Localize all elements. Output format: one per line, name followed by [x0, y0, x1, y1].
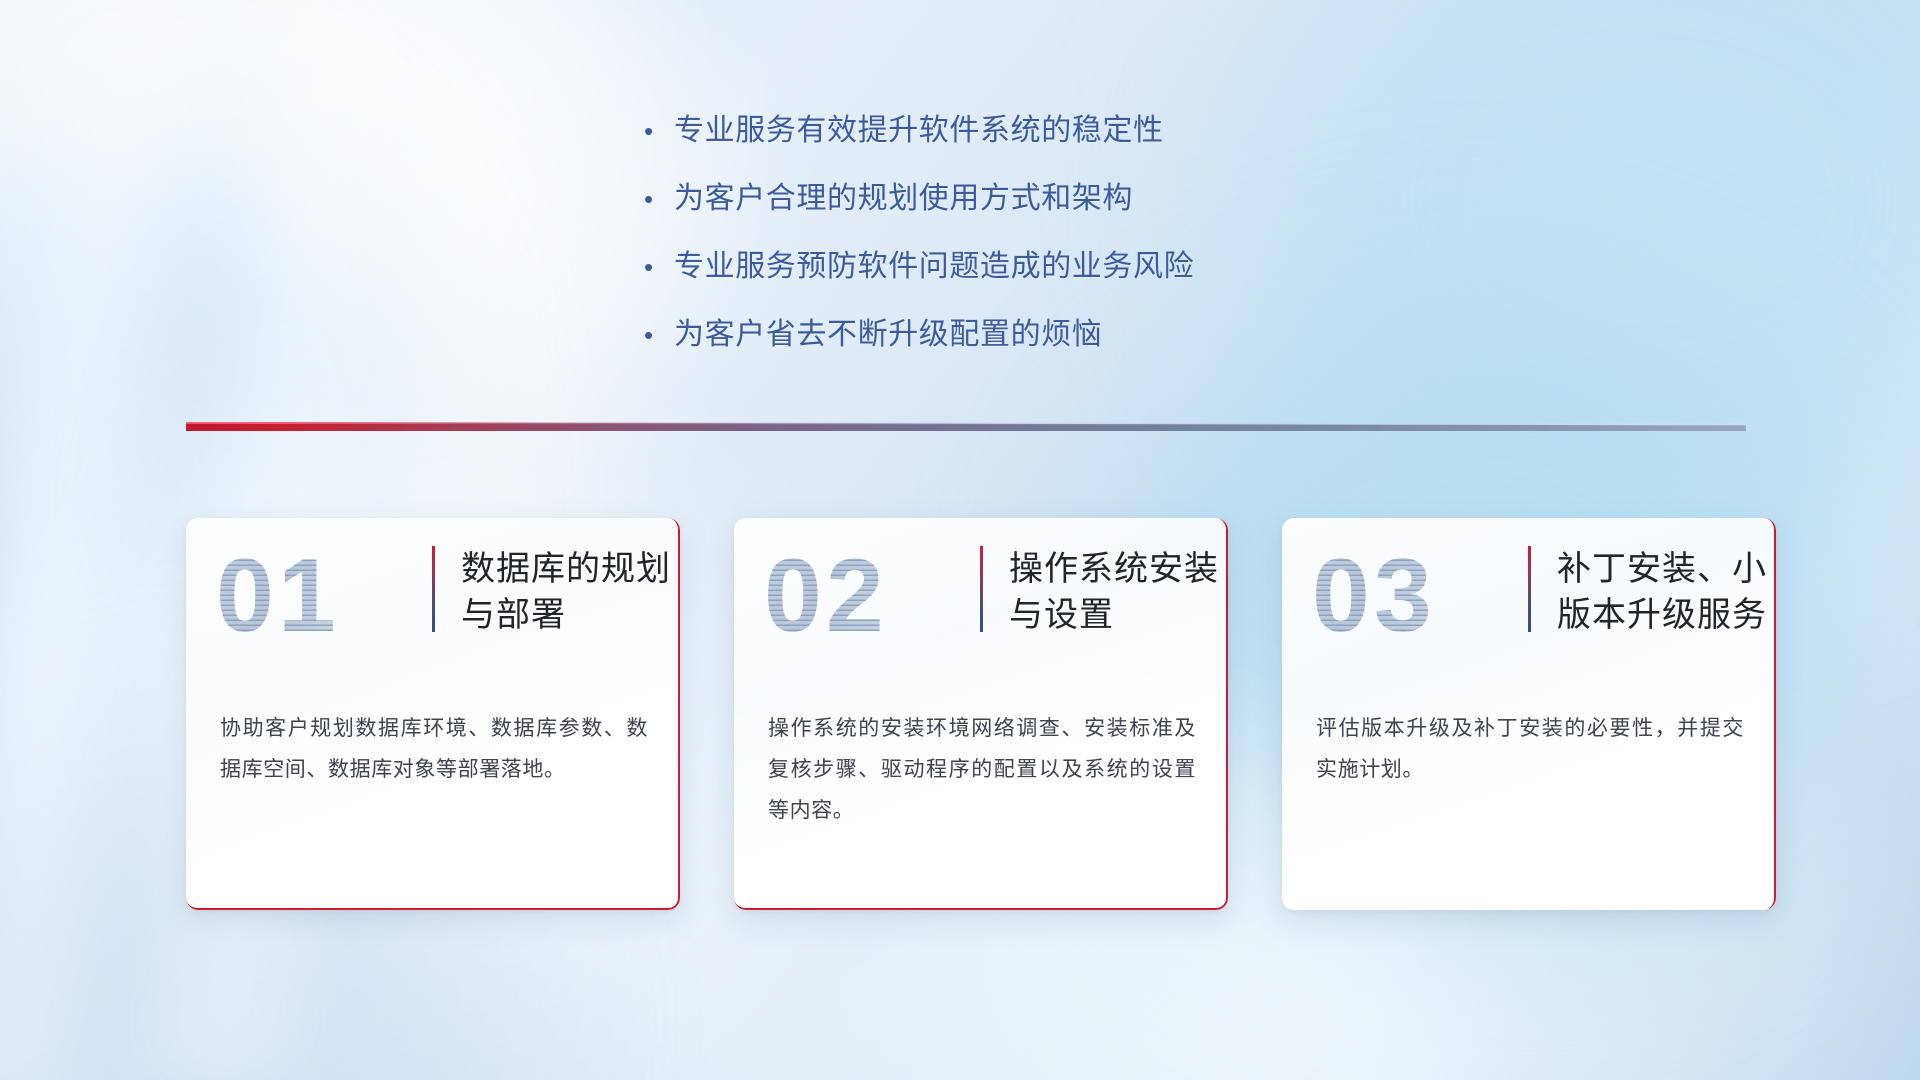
section-divider — [186, 422, 1746, 438]
bullet-item: • 为客户合理的规划使用方式和架构 — [640, 180, 1400, 218]
bullet-text: 为客户合理的规划使用方式和架构 — [674, 180, 1400, 218]
bullet-dot-icon: • — [640, 316, 674, 354]
card-title: 补丁安装、小 版本升级服务 — [1557, 546, 1767, 638]
card-header: 03 补丁安装、小 版本升级服务 — [1282, 518, 1776, 688]
card-description: 操作系统的安装环境网络调查、安装标准及复核步骤、驱动程序的配置以及系统的设置等内… — [768, 708, 1196, 831]
bullet-text: 专业服务预防软件问题造成的业务风险 — [674, 248, 1400, 286]
card-title-accent-bar — [432, 546, 435, 632]
service-card-02[interactable]: 02 操作系统安装 与设置 操作系统的安装环境网络调查、安装标准及复核步骤、驱动… — [734, 518, 1228, 910]
bullet-text: 为客户省去不断升级配置的烦恼 — [674, 316, 1400, 354]
bullet-item: • 专业服务预防软件问题造成的业务风险 — [640, 248, 1400, 286]
slide-canvas: • 专业服务有效提升软件系统的稳定性 • 为客户合理的规划使用方式和架构 • 专… — [0, 0, 1920, 1080]
card-number-watermark: 03 — [1312, 536, 1436, 656]
card-header: 01 数据库的规划 与部署 — [186, 518, 680, 688]
card-title: 数据库的规划 与部署 — [461, 546, 671, 638]
card-title: 操作系统安装 与设置 — [1009, 546, 1219, 638]
card-number-watermark: 02 — [764, 536, 888, 656]
bullet-dot-icon: • — [640, 248, 674, 286]
card-title-group: 操作系统安装 与设置 — [980, 546, 1219, 638]
service-card-03[interactable]: 03 补丁安装、小 版本升级服务 评估版本升级及补丁安装的必要性，并提交实施计划… — [1282, 518, 1776, 910]
bullet-item: • 专业服务有效提升软件系统的稳定性 — [640, 112, 1400, 150]
card-description: 协助客户规划数据库环境、数据库参数、数据库空间、数据库对象等部署落地。 — [220, 708, 648, 790]
card-title-group: 补丁安装、小 版本升级服务 — [1528, 546, 1767, 638]
card-number-watermark: 01 — [216, 536, 340, 656]
bullet-item: • 为客户省去不断升级配置的烦恼 — [640, 316, 1400, 354]
service-card-list: 01 数据库的规划 与部署 协助客户规划数据库环境、数据库参数、数据库空间、数据… — [186, 518, 1786, 928]
card-title-group: 数据库的规划 与部署 — [432, 546, 671, 638]
card-header: 02 操作系统安装 与设置 — [734, 518, 1228, 688]
card-description: 评估版本升级及补丁安装的必要性，并提交实施计划。 — [1316, 708, 1744, 790]
benefit-bullet-list: • 专业服务有效提升软件系统的稳定性 • 为客户合理的规划使用方式和架构 • 专… — [640, 112, 1400, 384]
bullet-text: 专业服务有效提升软件系统的稳定性 — [674, 112, 1400, 150]
card-title-accent-bar — [980, 546, 983, 632]
bullet-dot-icon: • — [640, 112, 674, 150]
card-title-accent-bar — [1528, 546, 1531, 632]
background-blob-1 — [0, 0, 640, 480]
bullet-dot-icon: • — [640, 180, 674, 218]
service-card-01[interactable]: 01 数据库的规划 与部署 协助客户规划数据库环境、数据库参数、数据库空间、数据… — [186, 518, 680, 910]
